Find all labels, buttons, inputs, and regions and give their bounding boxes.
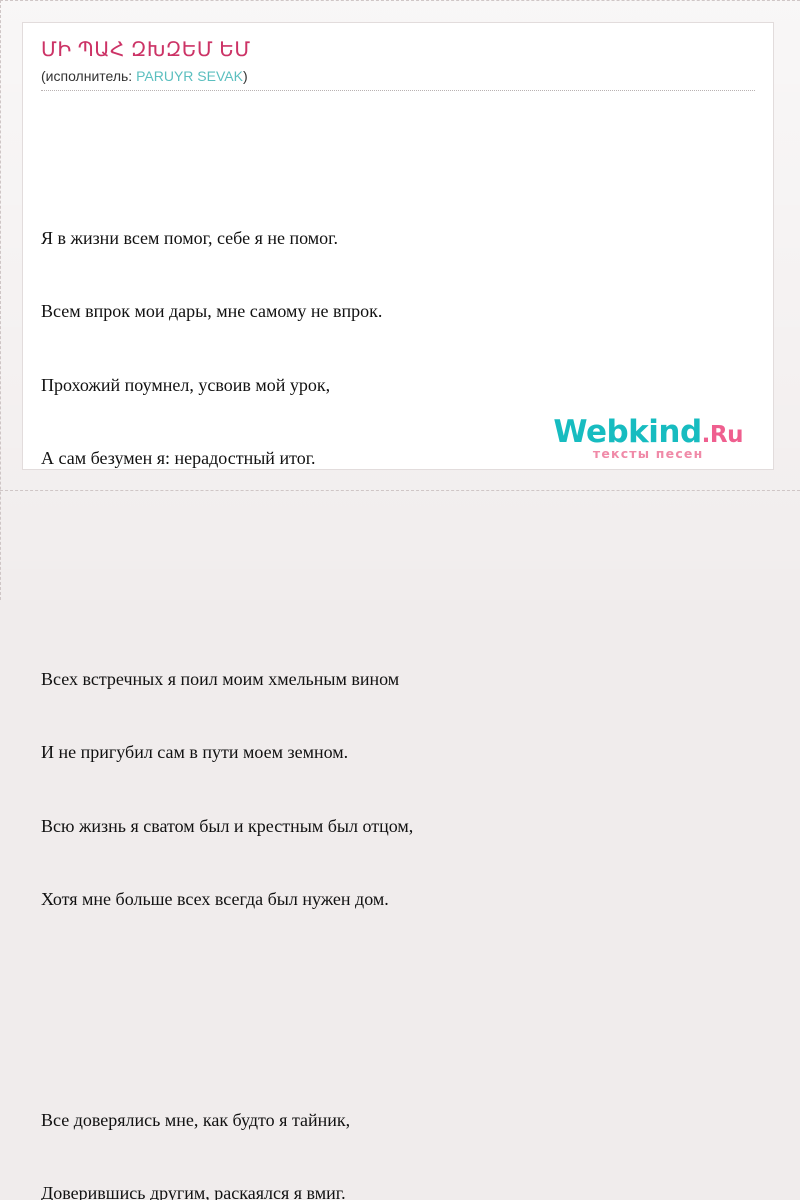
performer-line: (исполнитель: PARUYR SEVAK)	[41, 66, 755, 86]
lyric-line: Доверившись другим, раскаялся я вмиг.	[41, 1181, 755, 1200]
page-title: ՄԻ ՊԱՀ ԶԽԶԵՄ ԵՄ	[41, 37, 755, 63]
header-dotted-divider	[41, 90, 755, 91]
lyric-line: Я в жизни всем помог, себе я не помог.	[41, 226, 755, 251]
lyric-line: Всем впрок мои дары, мне самому не впрок…	[41, 299, 755, 324]
webkind-logo-tld: .Ru	[702, 422, 743, 448]
lyrics-body: Я в жизни всем помог, себе я не помог. В…	[41, 103, 755, 1200]
lyric-line: Все доверялись мне, как будто я тайник,	[41, 1108, 755, 1133]
webkind-logo[interactable]: Webkind.Ru тексты песен	[553, 416, 743, 461]
lyric-line: Прохожий поумнел, усвоив мой урок,	[41, 373, 755, 398]
performer-suffix-label: )	[243, 68, 248, 84]
lyric-line: Хотя мне больше всех всегда был нужен до…	[41, 887, 755, 912]
lyrics-card-content: ՄԻ ՊԱՀ ԶԽԶԵՄ ԵՄ (исполнитель: PARUYR SEV…	[23, 23, 773, 1200]
performer-prefix-label: (исполнитель:	[41, 68, 136, 84]
page-top-dashed-divider	[0, 0, 800, 1]
lyric-line: И не пригубил сам в пути моем земном.	[41, 740, 755, 765]
lyrics-stanza: Всех встречных я поил моим хмельным вино…	[41, 618, 755, 961]
lyric-line: Всех встречных я поил моим хмельным вино…	[41, 667, 755, 692]
page-root: ՄԻ ՊԱՀ ԶԽԶԵՄ ԵՄ (исполнитель: PARUYR SEV…	[0, 0, 800, 600]
webkind-logo-name: Webkind	[553, 414, 701, 450]
page-left-dashed-divider	[0, 0, 1, 600]
lyrics-card: ՄԻ ՊԱՀ ԶԽԶԵՄ ԵՄ (исполнитель: PARUYR SEV…	[22, 22, 774, 470]
lyrics-stanza: Я в жизни всем помог, себе я не помог. В…	[41, 177, 755, 520]
lyrics-stanza: Все доверялись мне, как будто я тайник, …	[41, 1059, 755, 1200]
lyric-line: Всю жизнь я сватом был и крестным был от…	[41, 814, 755, 839]
performer-link[interactable]: PARUYR SEVAK	[136, 68, 243, 84]
